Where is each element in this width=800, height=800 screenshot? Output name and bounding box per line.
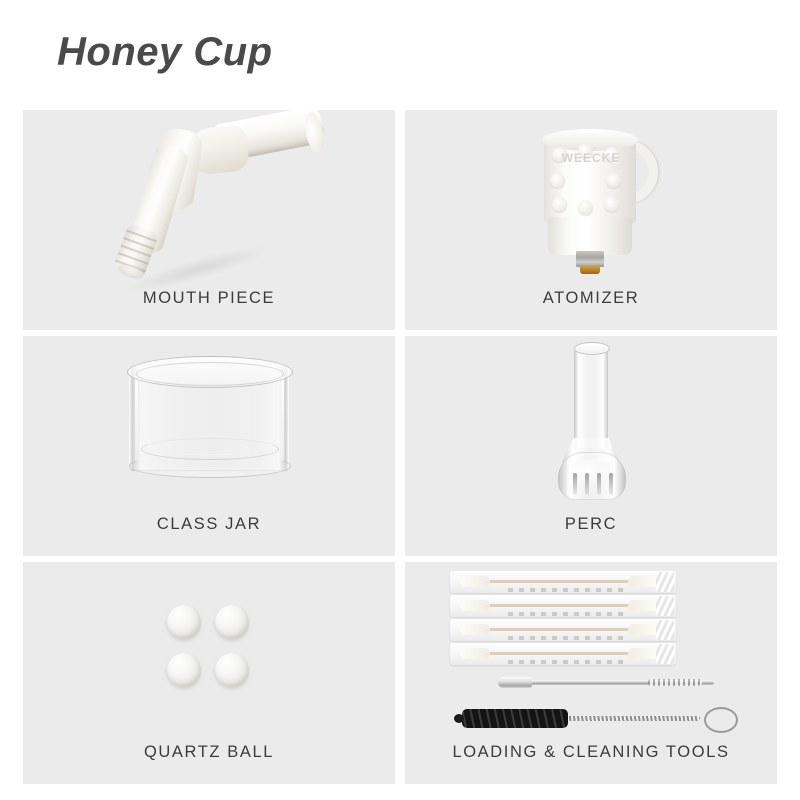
panel-class-jar[interactable]: CLASS JAR: [23, 336, 395, 556]
class-jar-image: [23, 336, 395, 504]
page-title: Honey Cup: [57, 30, 273, 75]
cleaning-brush-loop-handle: [704, 707, 738, 733]
mouth-piece-opening: [302, 111, 327, 155]
tools-illustration: [436, 567, 746, 727]
panel-caption: PERC: [405, 515, 777, 534]
panel-caption: MOUTH PIECE: [23, 289, 395, 308]
perc-tube: [574, 348, 608, 448]
panel-caption: QUARTZ BALL: [23, 743, 395, 762]
panel-quartz-ball[interactable]: QUARTZ BALL: [23, 562, 395, 784]
cotton-swab-packet: [450, 619, 676, 641]
quartz-ball-image: [23, 562, 395, 732]
dab-tool: [498, 677, 714, 687]
panel-perc[interactable]: PERC: [405, 336, 777, 556]
dab-tool-spade-tip: [498, 677, 532, 688]
cotton-swab-packet: [450, 595, 676, 617]
panel-mouth-piece[interactable]: MOUTH PIECE: [23, 110, 395, 330]
mouth-piece-image: [23, 110, 395, 278]
perc-image: [405, 336, 777, 504]
cleaning-brush: [448, 707, 740, 729]
accessory-grid: MOUTH PIECE: [23, 110, 777, 782]
quartz-ball-illustration: [159, 597, 259, 697]
product-accessories-page: Honey Cup: [0, 0, 800, 800]
perc-base: [558, 452, 626, 500]
dab-tool-grip: [648, 679, 702, 686]
atomizer-illustration: WEECKE: [516, 110, 666, 283]
mouth-piece-illustration: [84, 110, 334, 279]
class-jar-bottom: [129, 454, 291, 478]
atomizer-image: WEECKE: [405, 110, 777, 278]
perc-base-highlight: [573, 459, 611, 489]
class-jar-inner-rim: [136, 362, 284, 386]
cleaning-brush-bristles: [462, 709, 568, 728]
class-jar-illustration: [109, 350, 309, 490]
quartz-ball-item: [167, 653, 201, 687]
atomizer-brand-emboss: WEECKE: [516, 151, 666, 165]
cotton-swab-packet: [450, 643, 676, 665]
panel-atomizer[interactable]: WEECKE ATOMIZER: [405, 110, 777, 330]
class-jar-right-highlight: [281, 376, 284, 460]
panel-loading-cleaning-tools[interactable]: LOADING & CLEANING TOOLS: [405, 562, 777, 784]
quartz-ball-item: [167, 605, 201, 639]
cotton-swab-packet: [450, 571, 676, 593]
quartz-ball-item: [215, 653, 249, 687]
class-jar-left-highlight: [135, 376, 138, 460]
perc-illustration: [536, 340, 646, 500]
panel-caption: LOADING & CLEANING TOOLS: [405, 743, 777, 762]
panel-caption: ATOMIZER: [405, 289, 777, 308]
perc-tube-opening: [574, 342, 610, 355]
panel-caption: CLASS JAR: [23, 515, 395, 534]
loading-cleaning-tools-image: [405, 562, 777, 732]
quartz-ball-item: [215, 605, 249, 639]
atomizer-gold-contact: [580, 265, 600, 274]
